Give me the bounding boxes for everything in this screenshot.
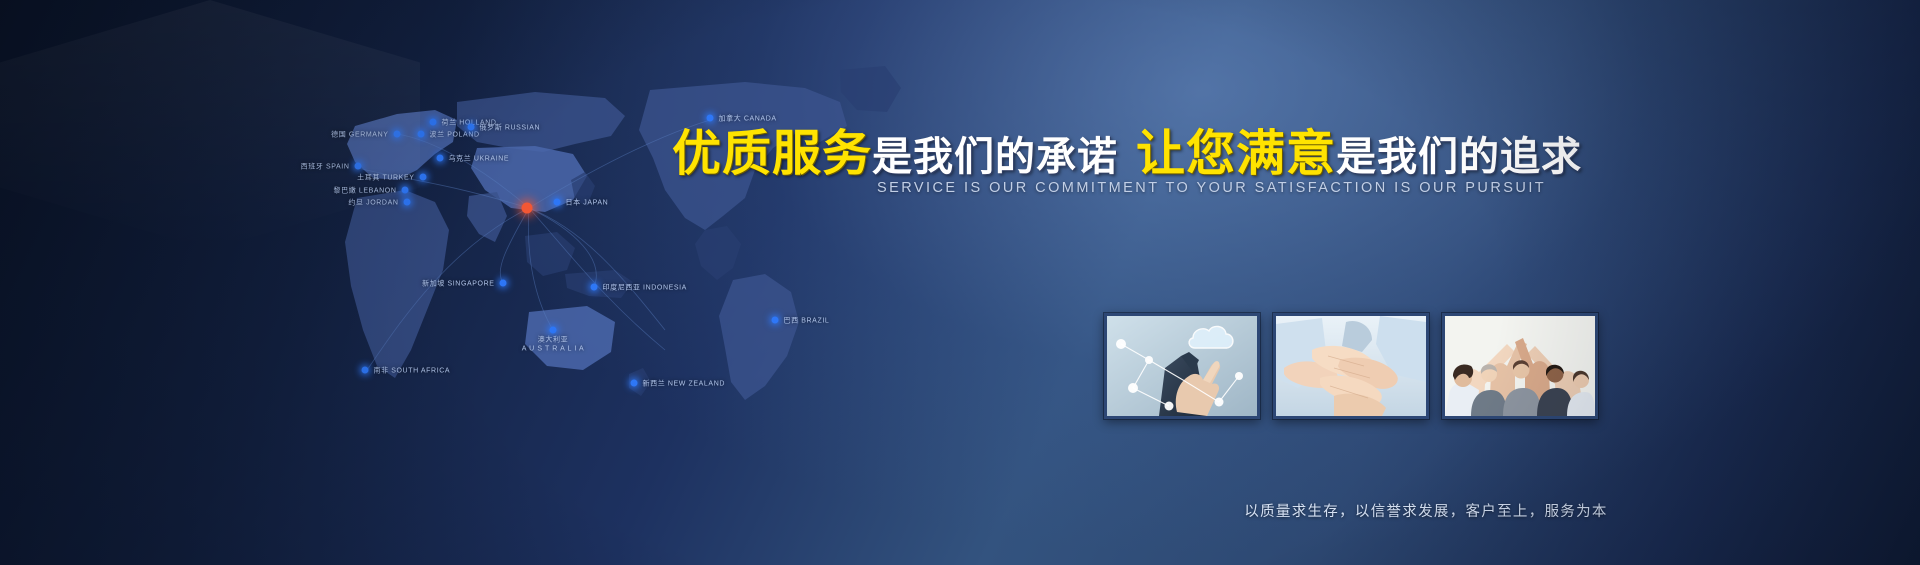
- promo-banner: 荷兰 HOLLAND德国 GERMANY波兰 POLAND俄罗斯 RUSSIAN…: [0, 0, 1920, 565]
- background-vignette: [0, 0, 1920, 565]
